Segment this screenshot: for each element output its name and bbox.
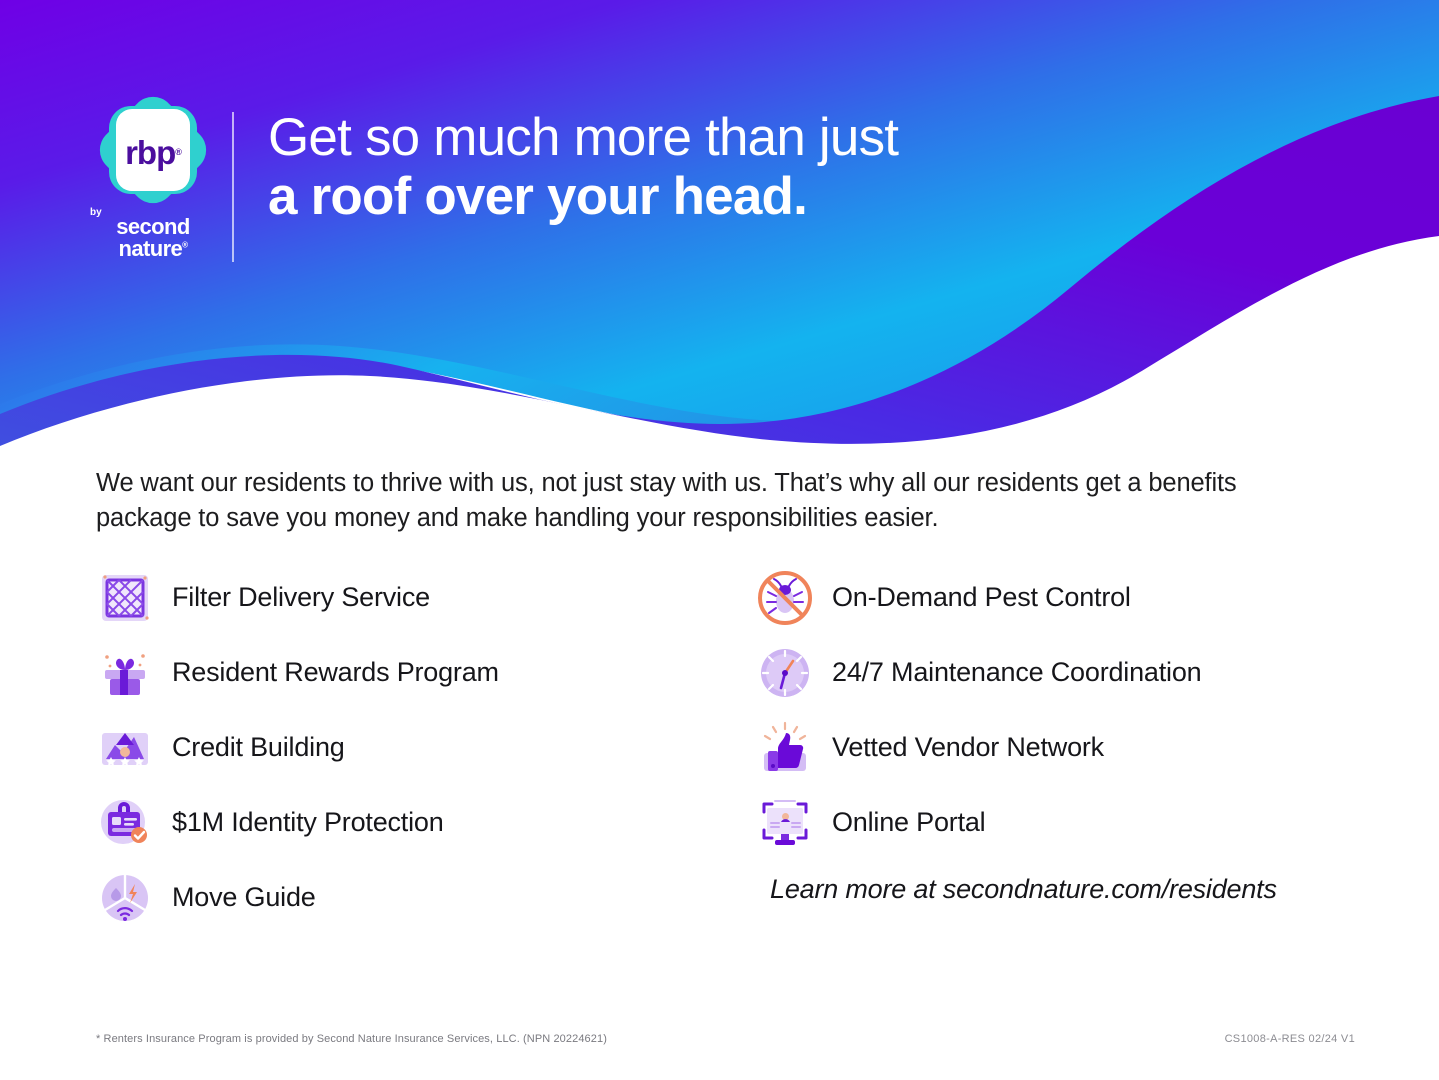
benefit-item: Resident Rewards Program — [96, 635, 756, 710]
benefit-label: Credit Building — [172, 732, 345, 763]
benefits-column-right: On-Demand Pest Control — [756, 560, 1346, 935]
id-badge-shield-icon — [96, 794, 154, 852]
benefit-label: Online Portal — [832, 807, 985, 838]
benefit-label: $1M Identity Protection — [172, 807, 444, 838]
logo-mark-text: rbp — [125, 136, 175, 169]
learn-more-link[interactable]: Learn more at secondnature.com/residents — [770, 874, 1346, 905]
air-filter-icon — [96, 569, 154, 627]
logo-brand-trademark: ® — [182, 241, 187, 250]
benefit-label: On-Demand Pest Control — [832, 582, 1131, 613]
benefit-item: Vetted Vendor Network — [756, 710, 1346, 785]
logo-mark-trademark: ® — [175, 148, 181, 157]
benefit-item: $1M Identity Protection — [96, 785, 756, 860]
logo-brand-name: second nature® — [88, 216, 218, 260]
benefit-item: Filter Delivery Service — [96, 560, 756, 635]
thumbs-up-icon — [756, 719, 814, 777]
logo-divider — [232, 112, 234, 262]
benefits-column-left: Filter Delivery Service Resident Rewards… — [96, 560, 756, 935]
benefits-section: Filter Delivery Service Resident Rewards… — [96, 560, 1346, 935]
footer-doc-code: CS1008-A-RES 02/24 V1 — [1225, 1033, 1355, 1045]
benefit-label: Vetted Vendor Network — [832, 732, 1104, 763]
benefit-label: Resident Rewards Program — [172, 657, 499, 688]
no-bug-icon — [756, 569, 814, 627]
benefit-item: Credit Building — [96, 710, 756, 785]
logo-brand-text: second nature — [116, 214, 189, 261]
rbp-rosette-icon: rbp® — [103, 100, 203, 199]
benefit-item: 24/7 Maintenance Coordination — [756, 635, 1346, 710]
intro-paragraph: We want our residents to thrive with us,… — [96, 466, 1312, 536]
benefit-item: On-Demand Pest Control — [756, 560, 1346, 635]
benefit-item: Move Guide — [96, 860, 756, 935]
utilities-circle-icon — [96, 869, 154, 927]
gift-box-icon — [96, 644, 154, 702]
benefit-label: Move Guide — [172, 882, 316, 913]
benefit-label: 24/7 Maintenance Coordination — [832, 657, 1201, 688]
hero-headline: Get so much more than just a roof over y… — [268, 108, 898, 227]
monitor-icon — [756, 794, 814, 852]
clock-icon — [756, 644, 814, 702]
credit-stars-icon — [96, 719, 154, 777]
benefit-item: Online Portal — [756, 785, 1346, 860]
footer-disclaimer: * Renters Insurance Program is provided … — [96, 1033, 607, 1045]
rbp-logo: rbp® by second nature® — [88, 100, 218, 260]
benefit-label: Filter Delivery Service — [172, 582, 430, 613]
headline-line-1: Get so much more than just — [268, 108, 898, 167]
headline-line-2: a roof over your head. — [268, 167, 898, 226]
